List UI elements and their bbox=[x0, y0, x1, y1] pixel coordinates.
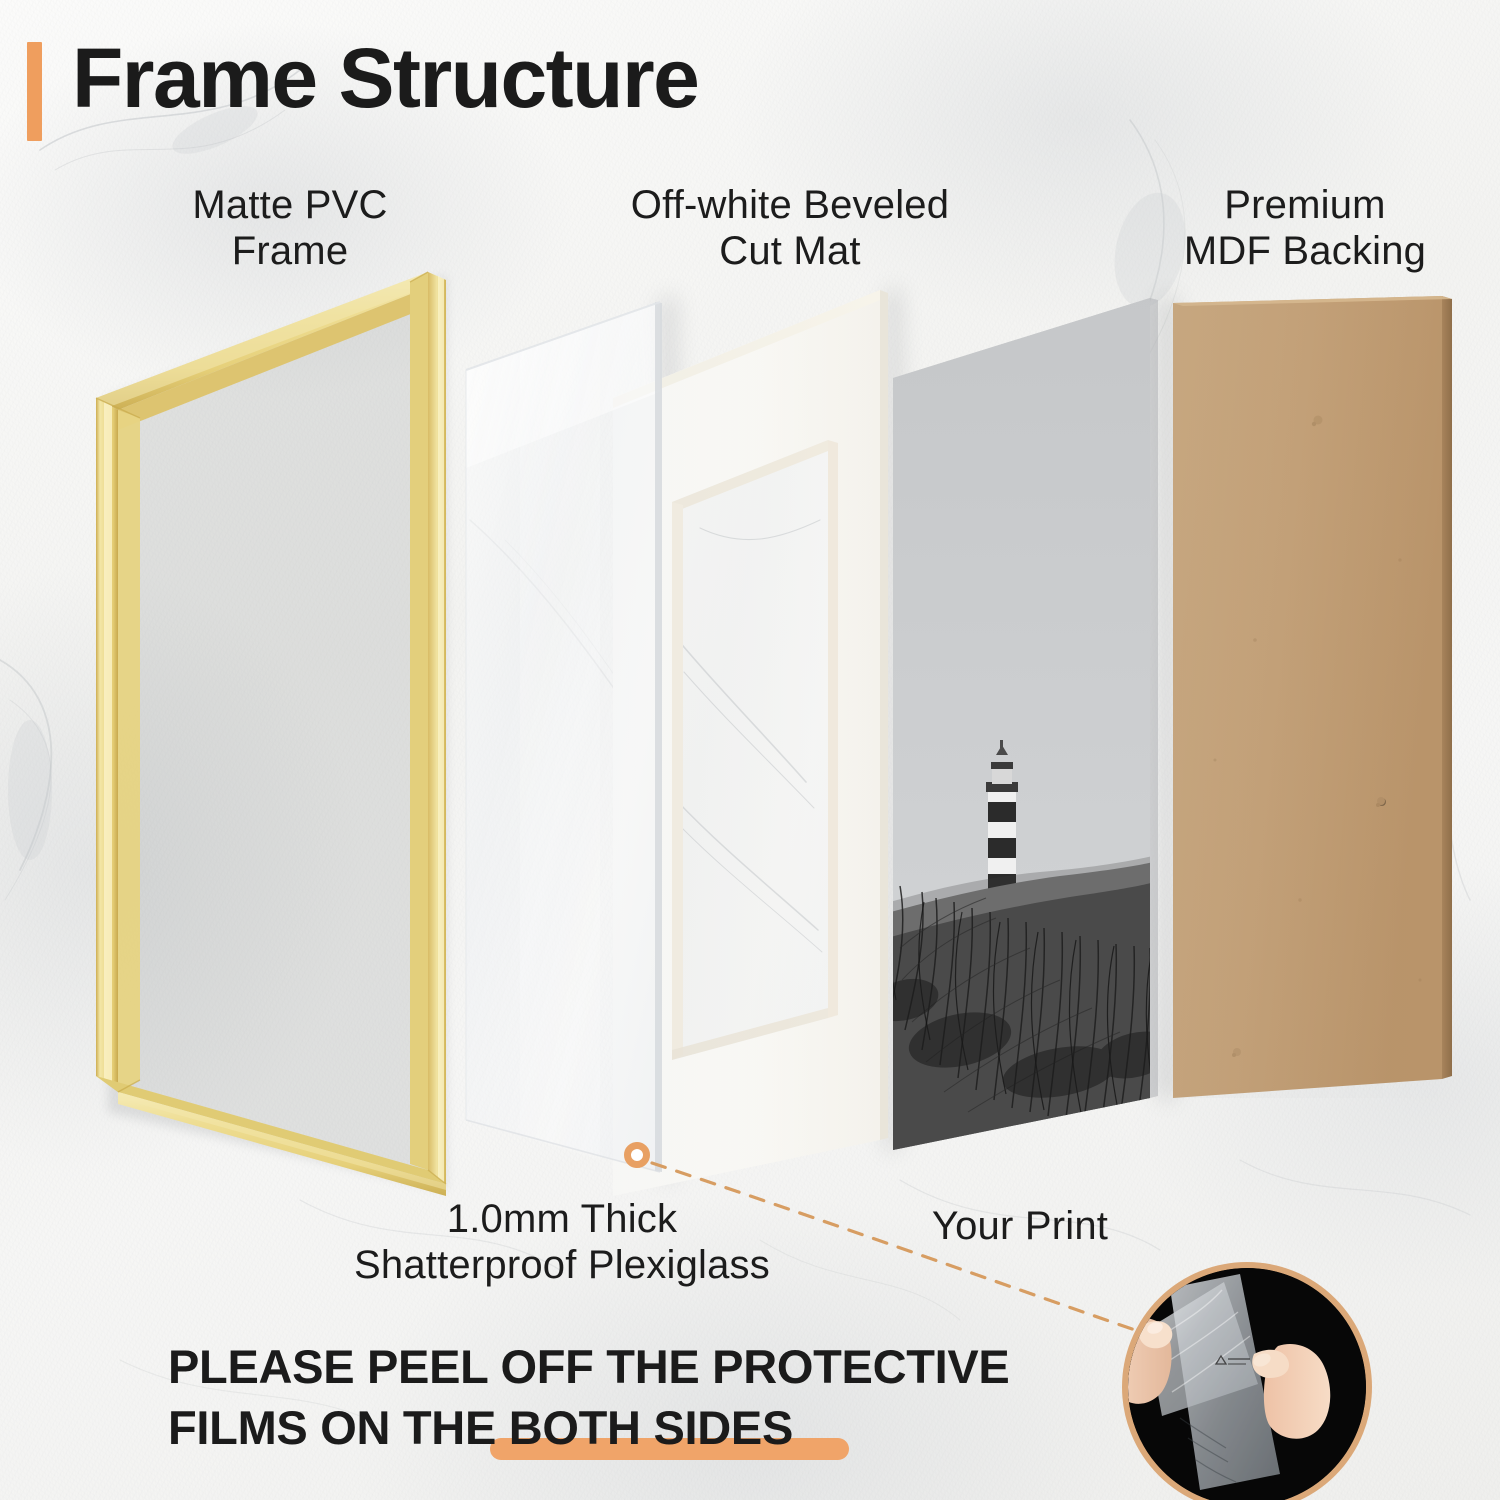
title-accent-bar bbox=[27, 42, 42, 141]
peel-film-photo-inner bbox=[1128, 1268, 1366, 1500]
warning-line-2: FILMS ON THE BOTH SIDES bbox=[168, 1397, 1048, 1458]
page-title: Frame Structure bbox=[72, 36, 698, 120]
label-mdf-backing: Premium MDF Backing bbox=[1115, 182, 1495, 275]
label-beveled-cut-mat: Off-white Beveled Cut Mat bbox=[570, 182, 1010, 275]
peel-warning-text: PLEASE PEEL OFF THE PROTECTIVE FILMS ON … bbox=[168, 1336, 1048, 1458]
peel-film-photo bbox=[1122, 1262, 1372, 1500]
warning-line-1: PLEASE PEEL OFF THE PROTECTIVE bbox=[168, 1336, 1048, 1397]
infographic-canvas: Frame Structure bbox=[0, 0, 1500, 1500]
label-matte-pvc-frame: Matte PVC Frame bbox=[110, 182, 470, 275]
label-your-print: Your Print bbox=[880, 1203, 1160, 1249]
callout-marker-dot bbox=[624, 1142, 650, 1168]
label-plexiglass: 1.0mm Thick Shatterproof Plexiglass bbox=[272, 1196, 852, 1289]
